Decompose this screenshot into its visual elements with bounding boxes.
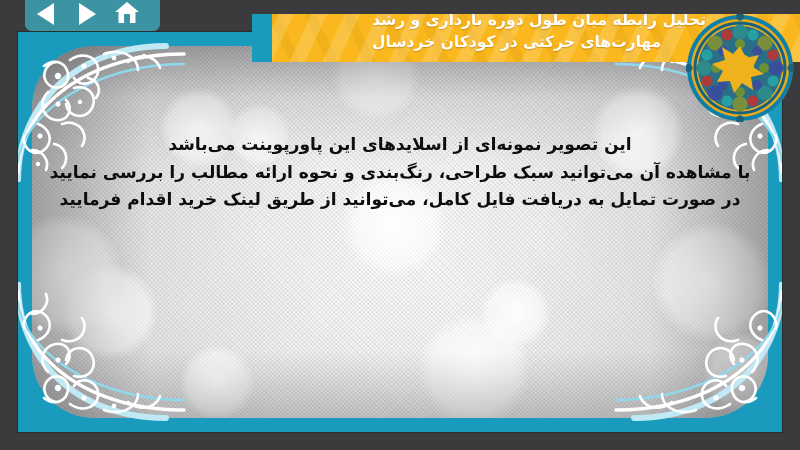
- slide-navigation-bar[interactable]: [25, 0, 160, 31]
- halftone-texture: [32, 46, 768, 418]
- bokeh-circle: [480, 278, 550, 348]
- slide-canvas: این تصویر نمونه‌ای از اسلایدهای این پاور…: [18, 32, 782, 432]
- body-line-3: در صورت تمایل به دریافت فایل کامل، می‌تو…: [44, 187, 756, 215]
- bokeh-circle: [704, 332, 768, 416]
- bokeh-circle: [652, 222, 768, 342]
- title-line-2: مهارت‌های حرکتی در کودکان خردسال: [372, 31, 661, 53]
- body-line-1: این تصویر نمونه‌ای از اسلایدهای این پاور…: [44, 132, 756, 160]
- vignette-shading: [32, 46, 768, 418]
- bokeh-circle: [62, 264, 158, 360]
- home-button[interactable]: [111, 0, 141, 28]
- bokeh-circle: [418, 314, 530, 418]
- prev-slide-button[interactable]: [33, 0, 63, 28]
- next-slide-button[interactable]: [72, 0, 102, 28]
- slide-body-text: این تصویر نمونه‌ای از اسلایدهای این پاور…: [18, 132, 782, 215]
- triangle-right-icon: [79, 3, 96, 25]
- presentation-viewer: این تصویر نمونه‌ای از اسلایدهای این پاور…: [0, 0, 800, 450]
- bokeh-circle: [32, 214, 122, 334]
- triangle-left-icon: [37, 3, 54, 25]
- body-line-2: با مشاهده آن می‌توانید سبک طراحی، رنگ‌بن…: [44, 160, 756, 188]
- slide-content-area: [32, 46, 768, 418]
- bokeh-circle: [180, 346, 254, 418]
- home-icon: [113, 0, 141, 26]
